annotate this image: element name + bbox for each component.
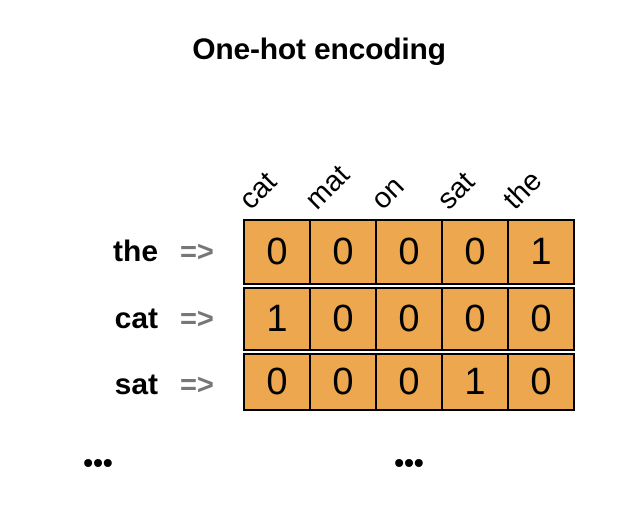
cell-the-the: 1 xyxy=(509,221,573,283)
cell-sat-on: 0 xyxy=(377,355,443,409)
cell-cat-cat: 1 xyxy=(245,289,311,349)
column-header-mat: mat xyxy=(300,160,355,215)
cell-sat-cat: 0 xyxy=(245,355,311,409)
matrix-ellipsis: ••• xyxy=(394,449,423,477)
column-header-the: the xyxy=(498,166,547,215)
column-header-on: on xyxy=(366,172,409,215)
cell-cat-mat: 0 xyxy=(311,289,377,349)
diagram-canvas: One-hot encoding cat mat on sat the the … xyxy=(0,0,638,522)
cell-cat-on: 0 xyxy=(377,289,443,349)
page-title: One-hot encoding xyxy=(0,33,638,67)
cell-cat-sat: 0 xyxy=(443,289,509,349)
cell-sat-the: 0 xyxy=(509,355,573,409)
table-row: 1 0 0 0 0 xyxy=(243,287,575,351)
table-row: 0 0 0 1 0 xyxy=(243,353,575,411)
cell-sat-sat: 1 xyxy=(443,355,509,409)
row-arrow-sat: => xyxy=(180,371,236,400)
cell-the-on: 0 xyxy=(377,221,443,283)
column-header-sat: sat xyxy=(432,167,480,215)
row-arrow-the: => xyxy=(180,238,236,267)
cell-cat-the: 0 xyxy=(509,289,573,349)
row-label-cat: cat => xyxy=(0,286,236,352)
row-label-the: the => xyxy=(0,219,236,285)
row-arrow-cat: => xyxy=(180,305,236,334)
row-word-the: the xyxy=(113,237,158,267)
cell-the-mat: 0 xyxy=(311,221,377,283)
cell-the-sat: 0 xyxy=(443,221,509,283)
cell-the-cat: 0 xyxy=(245,221,311,283)
row-word-sat: sat xyxy=(115,370,158,400)
table-row: 0 0 0 0 1 xyxy=(243,219,575,285)
row-labels-ellipsis: ••• xyxy=(83,449,112,477)
cell-sat-mat: 0 xyxy=(311,355,377,409)
column-header-cat: cat xyxy=(234,167,282,215)
row-word-cat: cat xyxy=(115,304,158,334)
row-label-sat: sat => xyxy=(0,352,236,418)
